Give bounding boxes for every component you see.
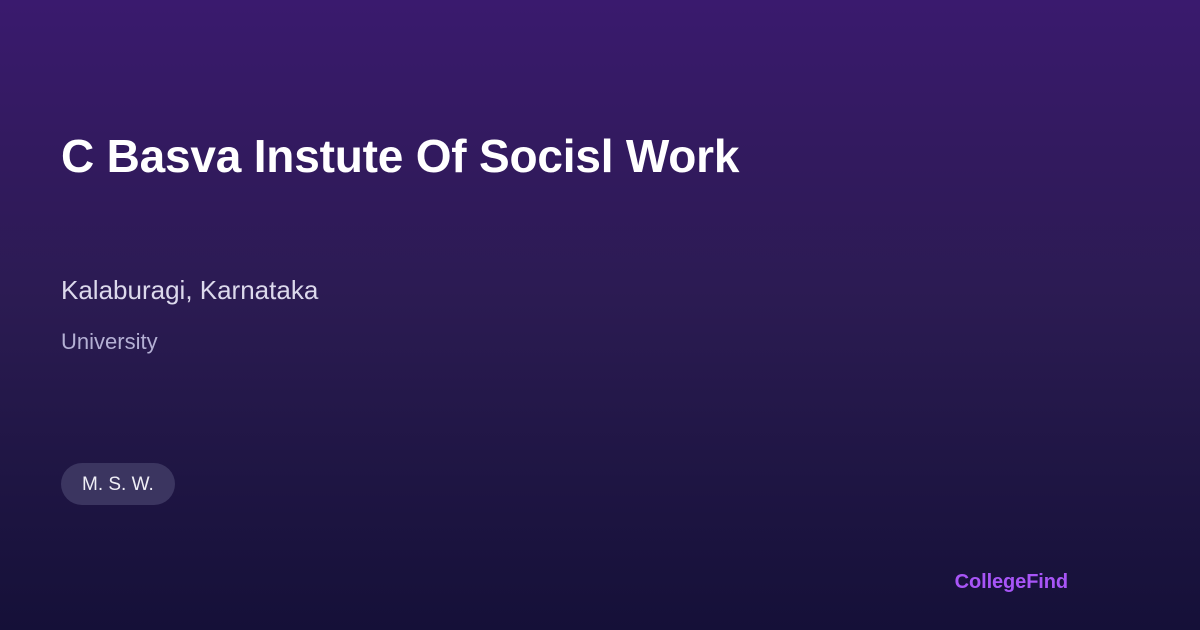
page-title: C Basva Instute Of Socisl Work <box>61 128 1041 184</box>
degree-badge-list: M. S. W. <box>61 463 175 505</box>
brand-logo: CollegeFind <box>955 569 1068 595</box>
og-preview-card: C Basva Instute Of Socisl Work Kalaburag… <box>0 0 1200 630</box>
institution-type-text: University <box>61 327 158 357</box>
status-badge: M. S. W. <box>61 463 175 505</box>
location-text: Kalaburagi, Karnataka <box>61 273 318 307</box>
